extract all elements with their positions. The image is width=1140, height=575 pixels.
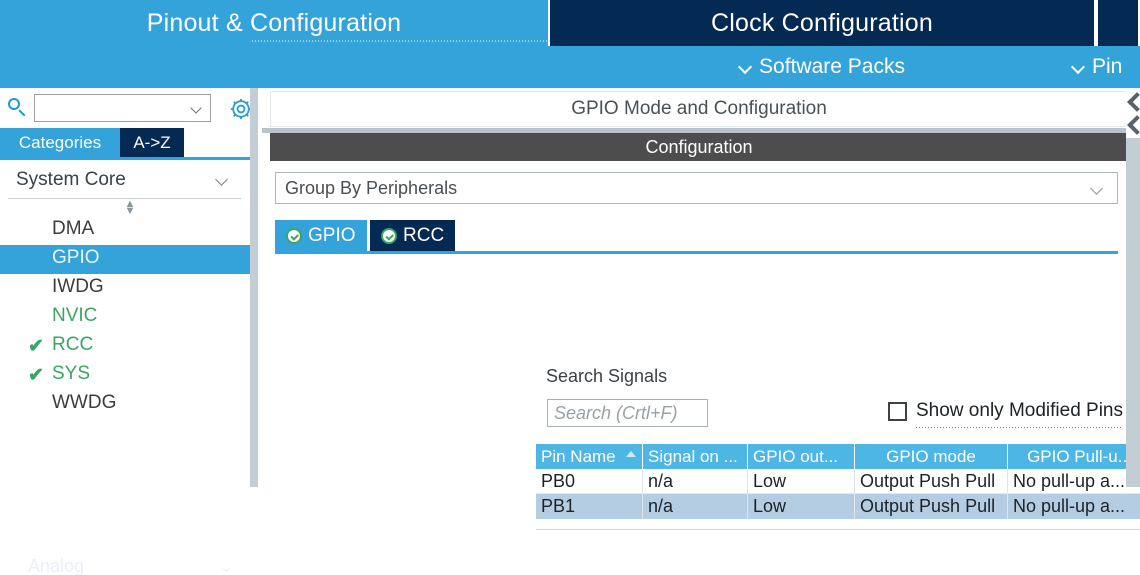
check-icon: ✔: [28, 335, 44, 358]
right-splitter[interactable]: [1126, 88, 1140, 487]
chevron-down-icon: ⌄: [219, 558, 234, 575]
column-header-label: Signal on ...: [648, 447, 738, 467]
group-analog-partial[interactable]: Analog ⌄: [0, 558, 250, 575]
sidebar-item-iwdg[interactable]: IWDG: [0, 274, 250, 303]
column-header-gpio-pull[interactable]: GPIO Pull-u...: [1008, 444, 1140, 469]
search-signals-label: Search Signals: [546, 366, 667, 387]
sort-ascending-icon: [626, 451, 636, 457]
sidebar-item-rcc[interactable]: ✔ RCC: [0, 332, 250, 361]
sidebar-item-label: NVIC: [52, 305, 97, 327]
peripheral-tree: DMA GPIO IWDG NVIC ✔ RCC ✔ SYS WWDG: [0, 216, 250, 419]
sidebar-view-tabs: Categories A->Z: [0, 128, 250, 158]
gpio-configuration-panel: GPIO Mode and Configuration Configuratio…: [262, 88, 1140, 487]
menu-pinout[interactable]: Pin: [1072, 46, 1140, 88]
tab-a-to-z[interactable]: A->Z: [120, 128, 184, 157]
sidebar-item-sys[interactable]: ✔ SYS: [0, 361, 250, 390]
chevron-down-icon: [216, 175, 230, 185]
tab-categories-label: Categories: [19, 133, 101, 153]
show-modified-pins-row[interactable]: Show only Modified Pins: [888, 400, 1123, 422]
group-analog-label: Analog: [28, 558, 84, 575]
cell-signal-on: n/a: [643, 469, 748, 494]
sub-menu-bar: Software Packs Pin: [0, 46, 1140, 88]
column-header-label: GPIO Pull-u...: [1027, 447, 1132, 467]
table-row[interactable]: PB0 n/a Low Output Push Pull No pull-up …: [536, 469, 1140, 494]
table-body: PB0 n/a Low Output Push Pull No pull-up …: [536, 469, 1140, 519]
cell-gpio-mode: Output Push Pull: [855, 469, 1008, 494]
column-header-label: GPIO mode: [886, 447, 976, 467]
search-icon: [8, 98, 27, 117]
chevron-down-icon: [191, 104, 203, 112]
sidebar-item-label: SYS: [52, 363, 90, 385]
peripheral-sidebar: Categories A->Z System Core ▲▼ DMA GPIO …: [0, 88, 250, 487]
sidebar-item-dma[interactable]: DMA: [0, 216, 250, 245]
sidebar-item-label: RCC: [52, 334, 93, 356]
check-circle-icon: [286, 228, 302, 244]
sidebar-search-row: [0, 88, 250, 128]
cell-gpio-pull: No pull-up a...: [1008, 494, 1140, 519]
configuration-header: Configuration: [270, 133, 1128, 161]
chevron-down-icon: [1072, 61, 1085, 74]
tab-clock-configuration[interactable]: Clock Configuration: [548, 0, 1096, 46]
menu-software-packs[interactable]: Software Packs: [548, 46, 1096, 88]
cell-gpio-output: Low: [748, 469, 855, 494]
sidebar-item-label: GPIO: [52, 247, 100, 269]
cell-gpio-pull: No pull-up a...: [1008, 469, 1140, 494]
software-packs-label: Software Packs: [759, 55, 905, 79]
sidebar-item-label: DMA: [52, 218, 94, 240]
chevron-down-icon: [739, 61, 752, 74]
mode-header-label: GPIO Mode and Configuration: [571, 98, 827, 120]
cell-signal-on: n/a: [643, 494, 748, 519]
sidebar-item-wwdg[interactable]: WWDG: [0, 390, 250, 419]
table-header-row: Pin Name Signal on ... GPIO out... GPIO …: [536, 444, 1140, 469]
search-signals-placeholder: Search (Crtl+F): [554, 403, 678, 424]
group-by-value: Group By Peripherals: [285, 178, 457, 199]
tab-categories[interactable]: Categories: [0, 128, 120, 157]
stm32cubemx-window: Pinout & Configuration Clock Configurati…: [0, 0, 1140, 487]
group-system-core[interactable]: System Core: [8, 166, 244, 196]
chevron-down-icon: [1091, 184, 1105, 194]
focus-indicator: [252, 40, 552, 42]
tab-rcc-label: RCC: [403, 225, 444, 247]
group-by-select[interactable]: Group By Peripherals: [275, 172, 1118, 204]
column-header-label: GPIO out...: [753, 447, 838, 467]
main-tab-bar: Pinout & Configuration Clock Configurati…: [0, 0, 1140, 46]
chevron-left-icon[interactable]: [1126, 113, 1140, 135]
sidebar-item-label: IWDG: [52, 276, 104, 298]
show-modified-pins-label: Show only Modified Pins: [916, 400, 1123, 422]
chevron-left-icon[interactable]: [1126, 90, 1140, 112]
tab-gpio[interactable]: GPIO: [275, 220, 367, 252]
table-row[interactable]: PB1 n/a Low Output Push Pull No pull-up …: [536, 494, 1140, 519]
pinout-menu-label: Pin: [1092, 55, 1122, 79]
mode-header: GPIO Mode and Configuration: [270, 91, 1128, 127]
tabs-underline: [0, 157, 250, 160]
cell-pin-name: PB0: [536, 469, 643, 494]
column-header-gpio-mode[interactable]: GPIO mode: [855, 444, 1008, 469]
search-signals-input[interactable]: Search (Crtl+F): [547, 399, 708, 427]
tab-overflow[interactable]: [1096, 0, 1140, 46]
column-header-pin-name[interactable]: Pin Name: [536, 444, 643, 469]
group-system-core-label: System Core: [16, 169, 126, 191]
show-modified-pins-checkbox[interactable]: [888, 402, 907, 421]
gpio-pin-table: Pin Name Signal on ... GPIO out... GPIO …: [536, 444, 1140, 519]
table-bottom-border: [536, 529, 1140, 530]
configuration-header-label: Configuration: [645, 137, 752, 158]
column-header-label: Pin Name: [541, 447, 616, 467]
tab-clock-label: Clock Configuration: [711, 9, 933, 38]
peripheral-tab-underline: [275, 251, 1118, 254]
check-circle-icon: [381, 228, 397, 244]
cell-gpio-output: Low: [748, 494, 855, 519]
column-header-gpio-output[interactable]: GPIO out...: [748, 444, 855, 469]
scroll-up-spinner[interactable]: ▲▼: [123, 201, 137, 215]
column-header-signal-on[interactable]: Signal on ...: [643, 444, 748, 469]
tab-gpio-label: GPIO: [308, 225, 356, 247]
tab-pinout-label: Pinout & Configuration: [147, 9, 402, 38]
check-icon: ✔: [28, 364, 44, 387]
sidebar-item-nvic[interactable]: NVIC: [0, 303, 250, 332]
tab-a-to-z-label: A->Z: [133, 133, 170, 153]
sidebar-search-combo[interactable]: [34, 94, 211, 122]
tab-rcc[interactable]: RCC: [370, 220, 455, 252]
cell-pin-name: PB1: [536, 494, 643, 519]
sidebar-item-label: WWDG: [52, 392, 116, 414]
cell-gpio-mode: Output Push Pull: [855, 494, 1008, 519]
sidebar-item-gpio[interactable]: GPIO: [0, 245, 250, 274]
